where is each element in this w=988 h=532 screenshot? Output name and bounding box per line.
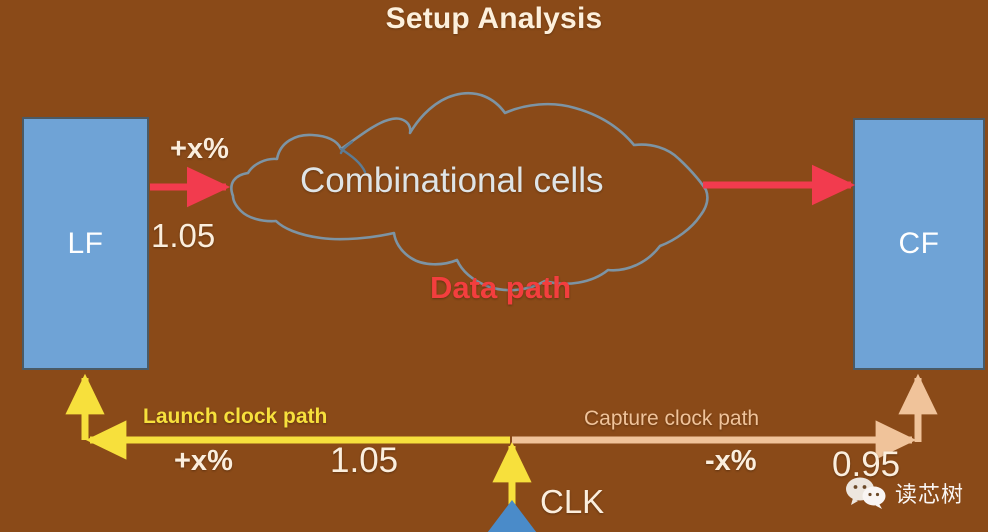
clock-source-triangle	[478, 500, 546, 532]
launch-clock-derate-label: +x%	[174, 447, 233, 476]
capture-flop-block: CF	[853, 118, 985, 370]
page-title: Setup Analysis	[0, 2, 988, 36]
capture-clock-derate-label: -x%	[705, 447, 757, 476]
launch-flop-block: LF	[22, 117, 149, 370]
data-path-delay-value: 1.05	[151, 219, 215, 252]
capture-flop-label: CF	[899, 227, 940, 261]
combinational-cells-label: Combinational cells	[300, 163, 603, 198]
watermark-text: 读芯树	[895, 477, 964, 509]
launch-clock-path-label: Launch clock path	[143, 406, 327, 427]
capture-clock-path-label: Capture clock path	[584, 408, 759, 429]
data-path-derate-label: +x%	[170, 135, 229, 164]
clock-source-label: CLK	[540, 485, 604, 518]
diagram-canvas: Setup Analysis LF CF	[0, 0, 988, 532]
data-path-label: Data path	[430, 272, 571, 303]
launch-clock-delay-value: 1.05	[330, 443, 398, 478]
wechat-icon	[845, 476, 889, 510]
watermark: 读芯树	[845, 476, 964, 510]
launch-flop-label: LF	[67, 227, 103, 261]
